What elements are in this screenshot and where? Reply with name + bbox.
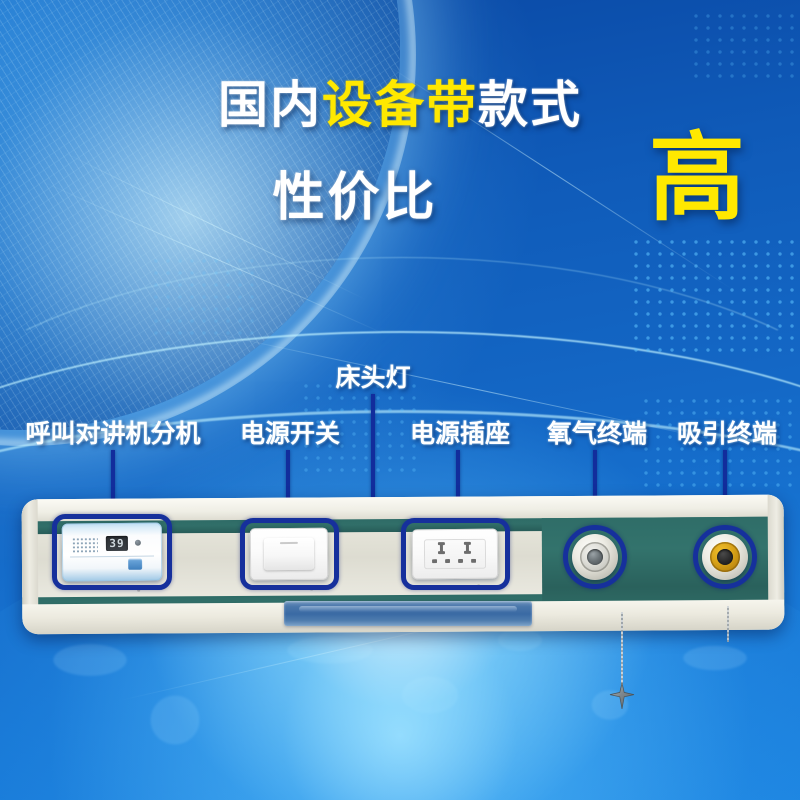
bed-lamp-diffuser[interactable] [284, 601, 532, 626]
halftone-dots [690, 10, 800, 80]
headline-part-1: 国内 [218, 77, 322, 133]
headline-part-2: 款式 [478, 77, 582, 133]
halftone-dots [630, 236, 800, 356]
highlight-circle-oxygen-terminal [563, 525, 627, 589]
highlight-circle-suction-terminal [693, 525, 757, 589]
panel-teal-edge [542, 603, 784, 609]
pull-cord-hook-icon[interactable] [608, 682, 636, 710]
highlight-box-power-switch [240, 518, 339, 590]
callout-label-oxygen-terminal: 氧气终端 [547, 414, 647, 450]
callout-label-call-intercom: 呼叫对讲机分机 [25, 414, 200, 450]
pull-cord-secondary [727, 606, 729, 642]
headline-big-character: 高 [649, 131, 745, 227]
headline-highlight: 设备带 [322, 77, 478, 133]
panel-end-cap-right [768, 495, 785, 630]
headline-subtext: 性价比 [272, 155, 437, 230]
highlight-box-power-socket [401, 518, 510, 590]
halftone-dots [150, 255, 260, 335]
highlight-box-call-intercom [52, 514, 172, 590]
callout-label-power-socket: 电源插座 [410, 414, 510, 450]
headline-block: 国内设备带款式 性价比 高 [0, 78, 800, 237]
panel-end-cap-left [22, 499, 39, 634]
callout-label-power-switch: 电源开关 [240, 414, 340, 450]
headline-line-2: 性价比 高 [0, 155, 800, 237]
callout-label-bed-lamp: 床头灯 [335, 358, 410, 394]
banner-stage: 国内设备带款式 性价比 高 呼叫对讲机分机 电源开关 床头灯 电源插座 氧气终端… [0, 0, 800, 800]
callout-label-suction-terminal: 吸引终端 [677, 414, 777, 450]
pull-cord[interactable] [621, 612, 623, 690]
